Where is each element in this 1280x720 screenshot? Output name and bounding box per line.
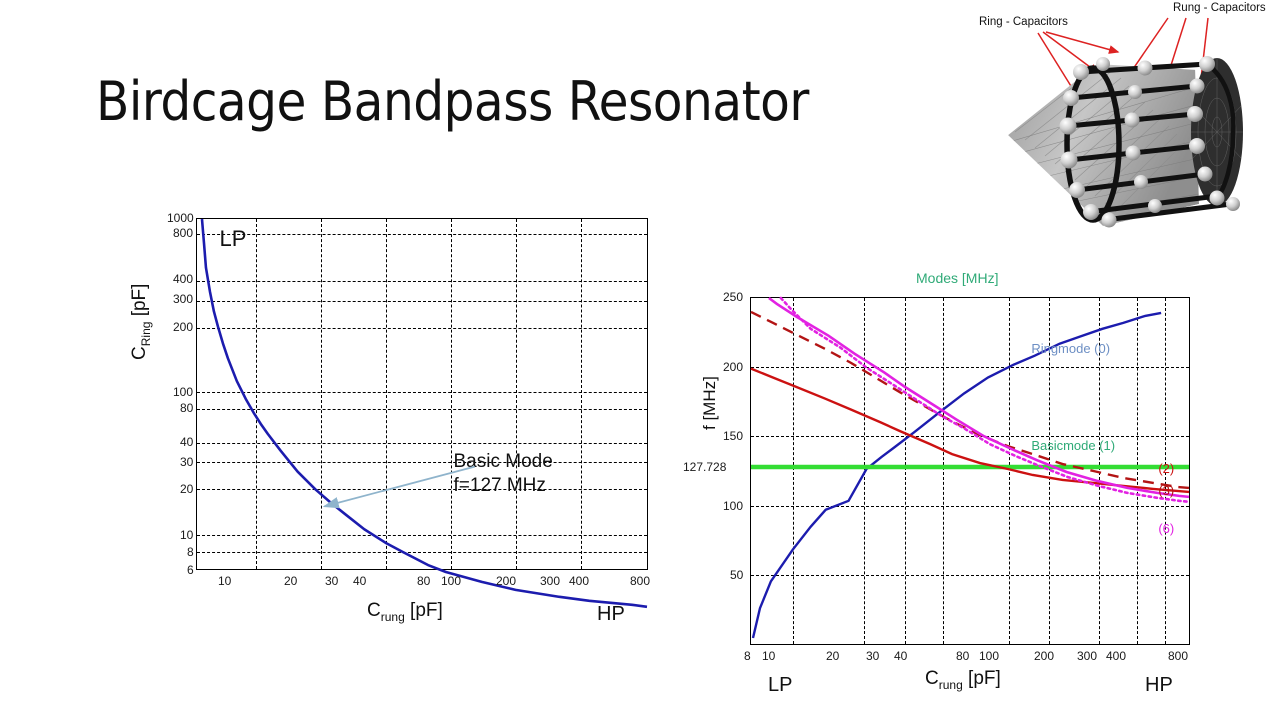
rxtick-100: 100 <box>979 649 999 663</box>
rytick-150: 150 <box>723 429 743 443</box>
legend-mode-3: (3) <box>1158 483 1174 498</box>
ytick-100: 100 <box>173 385 193 399</box>
rytick-250: 250 <box>723 290 743 304</box>
right-chart-xlabel: Crung [pF] <box>925 668 1001 692</box>
rxtick-10: 10 <box>762 649 775 663</box>
legend-mode-6: (6) <box>1158 521 1174 536</box>
rxtick-8: 8 <box>744 649 751 663</box>
rxtick-30: 30 <box>866 649 879 663</box>
rxtick-20: 20 <box>826 649 839 663</box>
rytick-200: 200 <box>723 360 743 374</box>
series-mode-3 <box>751 312 1189 488</box>
left-chart-xlabel: Crung [pF] <box>367 600 443 624</box>
rxtick-40: 40 <box>894 649 907 663</box>
xtick-10: 10 <box>218 574 231 588</box>
xtick-200: 200 <box>496 574 516 588</box>
birdcage-coil-model <box>985 14 1275 244</box>
xtick-800: 800 <box>630 574 650 588</box>
xtick-30: 30 <box>325 574 338 588</box>
right-chart-hp-label: HP <box>1145 674 1173 697</box>
ytick-200: 200 <box>173 320 193 334</box>
right-plot-area: Ringmode (0) Basicmode (1) (2) (3) (6) <box>750 297 1190 645</box>
ytick-800: 800 <box>173 226 193 240</box>
xtick-300: 300 <box>540 574 560 588</box>
xtick-100: 100 <box>441 574 461 588</box>
annotation-rung-capacitors: Rung - Capacitors <box>1173 2 1266 14</box>
ytick-10: 10 <box>180 528 193 542</box>
left-chart-curve <box>197 219 647 569</box>
rytick-50: 50 <box>730 568 743 582</box>
rxtick-200: 200 <box>1034 649 1054 663</box>
rytick-100: 100 <box>723 499 743 513</box>
ytick-80: 80 <box>180 401 193 415</box>
right-chart-lp-label: LP <box>768 674 792 697</box>
rxtick-300: 300 <box>1077 649 1097 663</box>
right-chart-title: Modes [MHz] <box>916 270 998 286</box>
rxtick-80: 80 <box>956 649 969 663</box>
legend-ringmode-0: Ringmode (0) <box>1031 341 1110 356</box>
ytick-20: 20 <box>180 482 193 496</box>
ytick-40: 40 <box>180 435 193 449</box>
ytick-1000: 1000 <box>167 211 194 225</box>
xtick-20: 20 <box>284 574 297 588</box>
xtick-400: 400 <box>569 574 589 588</box>
ytick-6: 6 <box>187 563 194 577</box>
rytick-127728: 127.728 <box>683 460 726 474</box>
ytick-8: 8 <box>187 545 194 559</box>
xtick-40: 40 <box>353 574 366 588</box>
left-plot-area: LP Basic Mode f=127 MHz <box>196 218 648 570</box>
xtick-80: 80 <box>417 574 430 588</box>
series-mode-6 <box>781 298 1189 502</box>
series-ringmode-0 <box>753 313 1161 638</box>
ytick-30: 30 <box>180 455 193 469</box>
rxtick-800: 800 <box>1168 649 1188 663</box>
legend-mode-2: (2) <box>1158 461 1174 476</box>
legend-basicmode-1: Basicmode (1) <box>1031 438 1115 453</box>
right-chart-ylabel: f [MHz] <box>700 376 720 430</box>
left-chart-ylabel: CRing [pF] <box>129 284 153 360</box>
ytick-400: 400 <box>173 272 193 286</box>
right-chart-curves <box>751 298 1189 644</box>
page-title: Birdcage Bandpass Resonator <box>96 70 809 133</box>
series-mode-2 <box>751 369 1189 492</box>
rxtick-400: 400 <box>1106 649 1126 663</box>
slide-canvas: Birdcage Bandpass Resonator Ring - Capac… <box>0 0 1280 720</box>
ytick-300: 300 <box>173 292 193 306</box>
left-chart-hp-label: HP <box>597 603 625 626</box>
